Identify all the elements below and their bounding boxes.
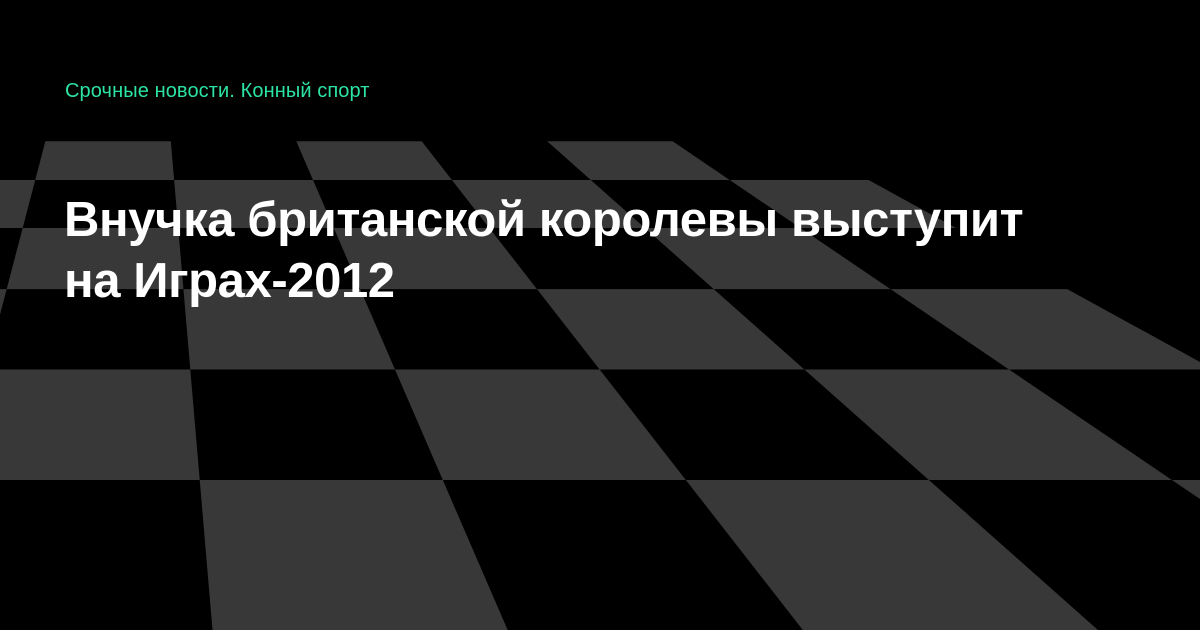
headline-line-2: на Играх-2012: [64, 251, 1094, 312]
kicker-label: Срочные новости. Конный спорт: [65, 78, 370, 104]
headline-line-1: Внучка британской королевы выступит: [64, 190, 1094, 251]
page-title: Внучка британской королевы выступит на И…: [64, 190, 1094, 312]
news-share-card: Срочные новости. Конный спорт Внучка бри…: [0, 0, 1200, 630]
card-content: Срочные новости. Конный спорт Внучка бри…: [0, 0, 1200, 630]
